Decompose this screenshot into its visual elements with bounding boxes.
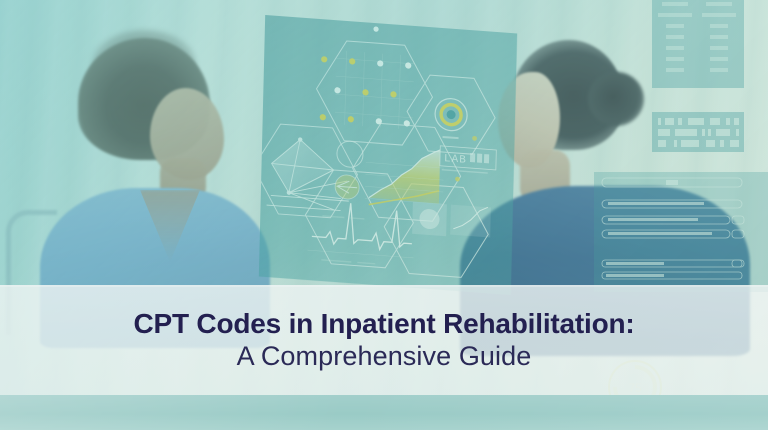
page-title-line-1: CPT Codes in Inpatient Rehabilitation: <box>133 309 634 339</box>
article-hero-banner: LAB <box>0 0 768 430</box>
page-title-line-2: A Comprehensive Guide <box>237 341 532 371</box>
bottom-strip-highlight <box>0 395 768 430</box>
title-band: CPT Codes in Inpatient Rehabilitation: A… <box>0 285 768 395</box>
